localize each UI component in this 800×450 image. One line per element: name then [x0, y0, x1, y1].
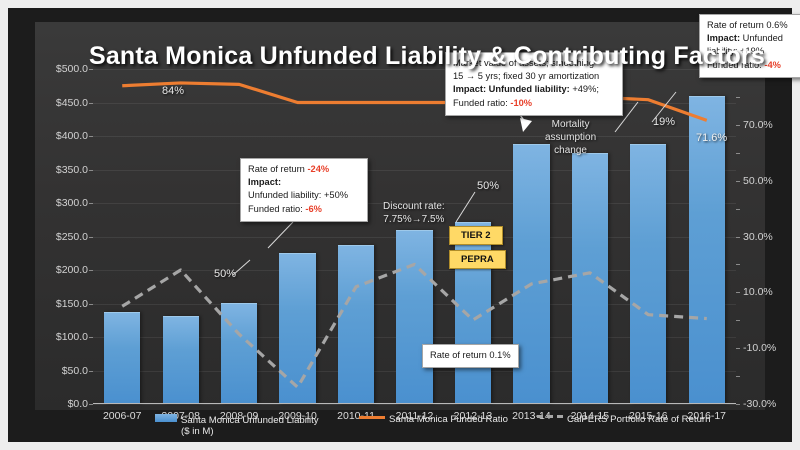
- note-line-1: Mortality: [545, 118, 596, 131]
- legend-item-rate-of-return[interactable]: CalPERS Portfolio Rate of Return: [537, 414, 710, 425]
- legend-item-unfunded-liability[interactable]: Santa Monica Unfunded Liability ($ in M): [155, 414, 319, 437]
- callout-line-2: 15 → 5 yrs; fixed 30 yr amortization: [453, 70, 615, 83]
- callout-rate-of-return-2009: Rate of return -24% Impact: Unfunded lia…: [240, 158, 368, 222]
- callout-line-1: Rate of return 0.1%: [430, 349, 511, 362]
- note-line-3: change: [545, 144, 596, 157]
- page-title: Santa Monica Unfunded Liability & Contri…: [35, 42, 800, 71]
- callout-line-2: Impact:: [248, 176, 360, 189]
- legend-label: CalPERS Portfolio Rate of Return: [567, 414, 710, 425]
- note-mortality-assumption: Mortality assumption change: [545, 118, 596, 157]
- badge-tier2: TIER 2: [449, 226, 503, 245]
- chart-legend: Santa Monica Unfunded Liability ($ in M)…: [35, 412, 765, 442]
- legend-sublabel: ($ in M): [181, 426, 319, 437]
- legend-item-funded-ratio[interactable]: Santa Monica Funded Ratio: [359, 414, 508, 425]
- badge-pepra: PEPRA: [449, 250, 506, 269]
- legend-bar-swatch-icon: [155, 414, 177, 422]
- legend-line-swatch-icon: [359, 416, 385, 419]
- note-line-1: Discount rate:: [383, 200, 445, 213]
- callout-line-3: Unfunded liability: +50%: [248, 189, 360, 202]
- note-line-2: assumption: [545, 131, 596, 144]
- callout-rate-of-return-2012: Rate of return 0.1%: [422, 344, 519, 368]
- slide-canvas: Santa Monica Unfunded Liability & Contri…: [8, 8, 792, 442]
- callout-line-4: Funded ratio: -10%: [453, 97, 615, 110]
- note-discount-rate: Discount rate: 7.75%→7.5%: [383, 200, 445, 226]
- note-line-2: 7.75%→7.5%: [383, 213, 445, 226]
- callout-line-1: Rate of return 0.6%: [707, 19, 795, 32]
- legend-label: Santa Monica Unfunded Liability: [181, 415, 319, 426]
- chart-plot-area: Santa Monica Unfunded Liability & Contri…: [35, 22, 765, 410]
- callout-line-4: Funded ratio: -6%: [248, 203, 360, 216]
- callout-line-1: Rate of return -24%: [248, 163, 360, 176]
- callout-line-3: Impact: Unfunded liability: +49%;: [453, 83, 615, 96]
- legend-label: Santa Monica Funded Ratio: [389, 414, 508, 425]
- legend-dashed-swatch-icon: [537, 415, 563, 418]
